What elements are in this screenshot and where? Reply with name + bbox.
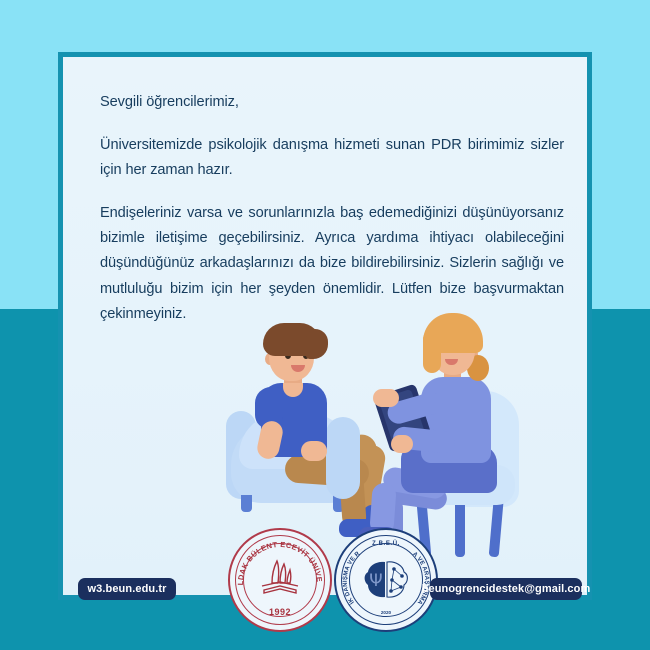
counselor-chair-leg	[489, 503, 504, 558]
card-surface: Sevgili öğrencilerimiz, Üniversitemizde …	[63, 57, 587, 595]
university-seal: ZONGULDAK BÜLENT ECEVİT ÜNİVERSİTESİ 199…	[228, 528, 332, 632]
svg-text:PSİKOLOJİK DANIŞMA VE REHBERLİ: PSİKOLOJİK DANIŞMA VE REHBERLİK	[336, 530, 362, 605]
announcement-text: Sevgili öğrencilerimiz, Üniversitemizde …	[100, 90, 564, 327]
student-hair-side	[306, 329, 328, 359]
armchair-leg	[241, 495, 252, 512]
counselor-hand	[391, 435, 413, 453]
counselor-hair	[423, 313, 483, 353]
announcement-card: Sevgili öğrencilerimiz, Üniversitemizde …	[58, 52, 592, 600]
greeting-line: Sevgili öğrencilerimiz,	[100, 90, 564, 115]
counselor-gesturing-hand	[373, 389, 399, 407]
counselor-chair-leg	[455, 503, 465, 557]
svg-text:Ψ: Ψ	[369, 571, 382, 591]
website-badge[interactable]: w3.beun.edu.tr	[78, 578, 176, 600]
university-founding-year: 1992	[230, 607, 330, 617]
psychological-center-seal: Z.B.E.Ü. PSİKOLOJİK DANIŞMA VE REHBERLİK…	[334, 528, 438, 632]
armchair-right-arm	[326, 417, 360, 499]
center-arc-left-label: PSİKOLOJİK DANIŞMA VE REHBERLİK	[336, 530, 362, 605]
paragraph-one: Üniversitemizde psikolojik danışma hizme…	[100, 133, 564, 183]
counseling-illustration	[63, 305, 587, 557]
student-hand	[301, 441, 327, 461]
center-founding-year: 2020	[336, 610, 436, 615]
open-book-icon	[256, 556, 304, 600]
psi-brain-icon: Ψ	[361, 557, 411, 603]
email-badge[interactable]: beunogrencidestek@gmail.com	[430, 578, 582, 600]
